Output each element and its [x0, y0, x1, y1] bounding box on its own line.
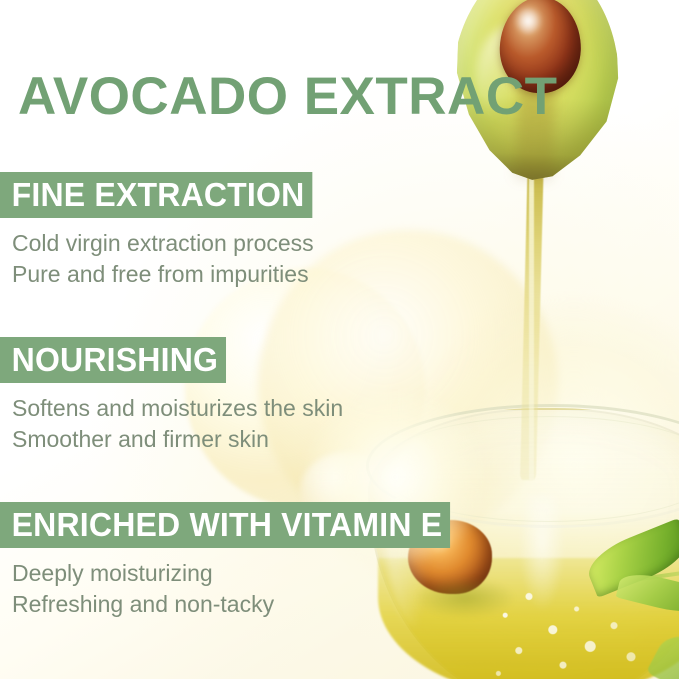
feature-line: Pure and free from impurities [0, 259, 322, 290]
avocado-extract-infographic: AVOCADO EXTRACT FINE EXTRACTION Cold vir… [0, 0, 679, 679]
text-layer: AVOCADO EXTRACT FINE EXTRACTION Cold vir… [0, 0, 679, 679]
feature-block-nourishing: NOURISHING Softens and moisturizes the s… [0, 337, 343, 454]
feature-line: Refreshing and non-tacky [0, 589, 464, 620]
feature-heading-banner: FINE EXTRACTION [0, 172, 312, 218]
feature-line: Softens and moisturizes the skin [0, 393, 343, 424]
feature-line: Deeply moisturizing [0, 558, 464, 589]
page-title: AVOCADO EXTRACT [18, 70, 557, 123]
feature-heading-banner: ENRICHED WITH VITAMIN E [0, 502, 450, 548]
feature-line: Cold virgin extraction process [0, 228, 322, 259]
feature-block-fine-extraction: FINE EXTRACTION Cold virgin extraction p… [0, 172, 322, 289]
feature-line: Smoother and firmer skin [0, 424, 343, 455]
feature-heading-banner: NOURISHING [0, 337, 226, 383]
feature-block-vitamin-e: ENRICHED WITH VITAMIN E Deeply moisturiz… [0, 502, 464, 619]
